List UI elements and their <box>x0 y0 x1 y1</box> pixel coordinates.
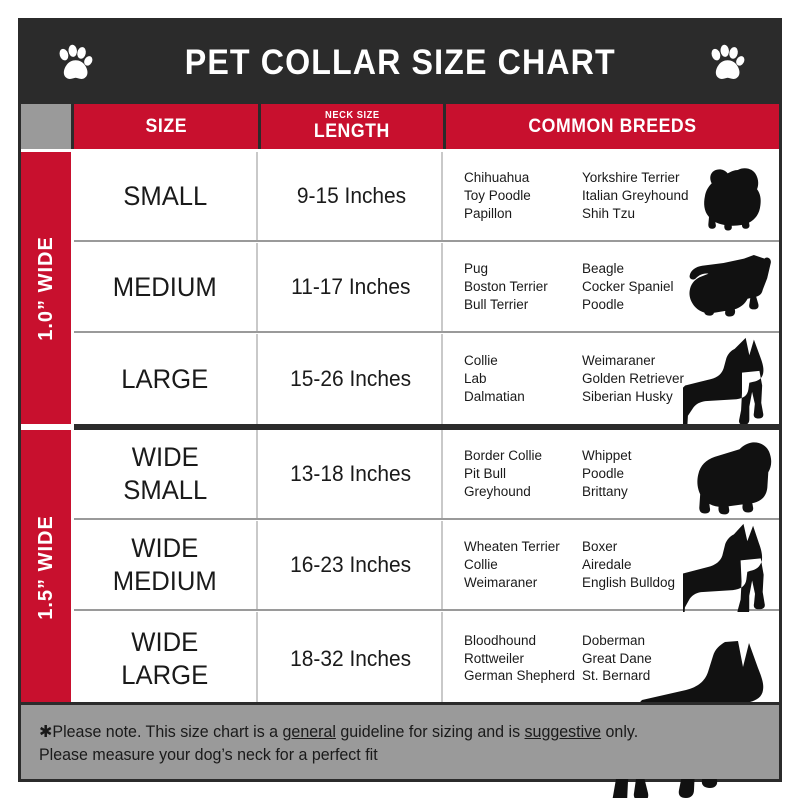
breed-item: Poodle <box>582 465 702 483</box>
breed-item: Siberian Husky <box>582 388 702 406</box>
column-header-size: SIZE <box>74 104 258 149</box>
breeds-column-2: WeimaranerGolden RetrieverSiberian Husky <box>582 352 702 406</box>
breeds-column-2: Yorkshire TerrierItalian GreyhoundShih T… <box>582 169 702 223</box>
breeds-column-1: ChihuahuaToy PoodlePapillon <box>464 169 582 223</box>
breed-item: Lab <box>464 370 582 388</box>
footer-line-1: ✱Please note. This size chart is a gener… <box>39 721 757 744</box>
breeds-column-1: PugBoston TerrierBull Terrier <box>464 260 582 314</box>
column-header-breeds: COMMON BREEDS <box>446 104 779 149</box>
breed-item: Bloodhound <box>464 632 582 650</box>
breed-item: Doberman <box>582 632 702 650</box>
footer-text-a: ✱Please note. This size chart is a <box>39 723 283 741</box>
footer-note: ✱Please note. This size chart is a gener… <box>21 702 779 779</box>
paw-print-icon <box>53 42 95 84</box>
section-label-width-1-0: 1.0” WIDE <box>21 152 71 424</box>
breeds-column-1: Wheaten TerrierCollieWeimaraner <box>464 538 582 592</box>
breed-item: Poodle <box>582 296 702 314</box>
footer-underline-suggestive: suggestive <box>525 723 602 741</box>
breed-item: English Bulldog <box>582 574 702 592</box>
table-row: WIDEMEDIUM16-23 InchesWheaten TerrierCol… <box>74 521 779 611</box>
cell-size: WIDELARGE <box>74 612 258 705</box>
cell-size: SMALL <box>74 152 258 240</box>
breed-item: Pug <box>464 260 582 278</box>
table-row: MEDIUM11-17 InchesPugBoston TerrierBull … <box>74 243 779 333</box>
table-header-row: SIZE NECK SIZE LENGTH COMMON BREEDS <box>21 104 779 149</box>
footer-text-b: guideline for sizing and is <box>336 723 525 741</box>
size-chart-card: PET COLLAR SIZE CHART SIZE NECK SIZE LEN… <box>18 18 782 782</box>
breed-item: Beagle <box>582 260 702 278</box>
breeds-column-2: BoxerAiredaleEnglish Bulldog <box>582 538 702 592</box>
cell-size: WIDESMALL <box>74 430 258 518</box>
breed-item: Pit Bull <box>464 465 582 483</box>
cell-breeds: CollieLabDalmatianWeimaranerGolden Retri… <box>446 334 779 424</box>
breed-item: German Shepherd <box>464 667 582 685</box>
size-label: SMALL <box>123 180 207 213</box>
breed-item: Boxer <box>582 538 702 556</box>
section-label-text: 1.5” WIDE <box>35 515 58 620</box>
corner-cell <box>21 104 71 149</box>
breed-item: Greyhound <box>464 483 582 501</box>
footer-underline-general: general <box>283 723 336 741</box>
table-row: WIDESMALL13-18 InchesBorder ColliePit Bu… <box>74 430 779 520</box>
cell-length: 18-32 Inches <box>261 612 443 705</box>
column-header-length-label: LENGTH <box>314 121 390 143</box>
length-value: 9-15 Inches <box>296 183 405 209</box>
breeds-column-1: Border ColliePit BullGreyhound <box>464 447 582 501</box>
breed-item: Collie <box>464 352 582 370</box>
cell-length: 15-26 Inches <box>261 334 443 424</box>
column-header-size-label: SIZE <box>145 116 187 138</box>
cell-size: LARGE <box>74 334 258 424</box>
breed-item: Whippet <box>582 447 702 465</box>
cell-length: 9-15 Inches <box>261 152 443 240</box>
breeds-column-2: WhippetPoodleBrittany <box>582 447 702 501</box>
breed-item: Cocker Spaniel <box>582 278 702 296</box>
size-label: WIDESMALL <box>123 441 207 507</box>
cell-breeds: ChihuahuaToy PoodlePapillonYorkshire Ter… <box>446 152 779 240</box>
cell-breeds: Border ColliePit BullGreyhoundWhippetPoo… <box>446 430 779 518</box>
footer-text-c: only. <box>601 723 638 741</box>
length-value: 13-18 Inches <box>291 461 412 487</box>
size-label: WIDEMEDIUM <box>113 532 217 598</box>
breed-item: Italian Greyhound <box>582 187 702 205</box>
table-row: WIDELARGE18-32 InchesBloodhoundRottweile… <box>74 612 779 705</box>
breed-item: Collie <box>464 556 582 574</box>
length-value: 15-26 Inches <box>291 366 412 392</box>
breed-item: Shih Tzu <box>582 205 702 223</box>
column-header-length: NECK SIZE LENGTH <box>261 104 443 149</box>
length-value: 18-32 Inches <box>291 646 412 672</box>
section-label-width-1-5: 1.5” WIDE <box>21 430 71 705</box>
cell-length: 16-23 Inches <box>261 521 443 609</box>
table-row: SMALL9-15 InchesChihuahuaToy PoodlePapil… <box>74 152 779 242</box>
length-value: 11-17 Inches <box>291 274 410 300</box>
breed-item: Brittany <box>582 483 702 501</box>
breed-item: St. Bernard <box>582 667 702 685</box>
column-header-breeds-label: COMMON BREEDS <box>528 116 696 138</box>
cell-breeds: Wheaten TerrierCollieWeimaranerBoxerAire… <box>446 521 779 609</box>
size-label: WIDELARGE <box>122 626 209 692</box>
section-label-text: 1.0” WIDE <box>35 236 58 341</box>
breed-item: Border Collie <box>464 447 582 465</box>
table-row: LARGE15-26 InchesCollieLabDalmatianWeima… <box>74 334 779 424</box>
cell-breeds: PugBoston TerrierBull TerrierBeagleCocke… <box>446 243 779 331</box>
breed-item: Great Dane <box>582 650 702 668</box>
breed-item: Wheaten Terrier <box>464 538 582 556</box>
breed-item: Boston Terrier <box>464 278 582 296</box>
column-header-length-sublabel: NECK SIZE <box>325 111 380 121</box>
table-body: SMALL9-15 InchesChihuahuaToy PoodlePapil… <box>74 152 779 705</box>
breeds-column-1: BloodhoundRottweilerGerman Shepherd <box>464 632 582 686</box>
paw-print-icon <box>705 42 747 84</box>
cell-breeds: BloodhoundRottweilerGerman ShepherdDober… <box>446 612 779 705</box>
cell-size: WIDEMEDIUM <box>74 521 258 609</box>
chart-header-banner: PET COLLAR SIZE CHART <box>21 21 779 104</box>
breed-item: Papillon <box>464 205 582 223</box>
breed-item: Weimaraner <box>464 574 582 592</box>
breed-item: Bull Terrier <box>464 296 582 314</box>
breed-item: Yorkshire Terrier <box>582 169 702 187</box>
cell-size: MEDIUM <box>74 243 258 331</box>
breed-item: Weimaraner <box>582 352 702 370</box>
length-value: 16-23 Inches <box>291 552 412 578</box>
breed-item: Chihuahua <box>464 169 582 187</box>
cell-length: 11-17 Inches <box>261 243 443 331</box>
breeds-column-2: DobermanGreat DaneSt. Bernard <box>582 632 702 686</box>
breeds-column-2: BeagleCocker SpanielPoodle <box>582 260 702 314</box>
page-title: PET COLLAR SIZE CHART <box>184 43 615 83</box>
breeds-column-1: CollieLabDalmatian <box>464 352 582 406</box>
breed-item: Toy Poodle <box>464 187 582 205</box>
breed-item: Golden Retriever <box>582 370 702 388</box>
breed-item: Rottweiler <box>464 650 582 668</box>
breed-item: Dalmatian <box>464 388 582 406</box>
footer-line-2: Please measure your dog’s neck for a per… <box>39 744 757 767</box>
cell-length: 13-18 Inches <box>261 430 443 518</box>
size-label: MEDIUM <box>113 271 217 304</box>
breed-item: Airedale <box>582 556 702 574</box>
size-label: LARGE <box>122 363 209 396</box>
